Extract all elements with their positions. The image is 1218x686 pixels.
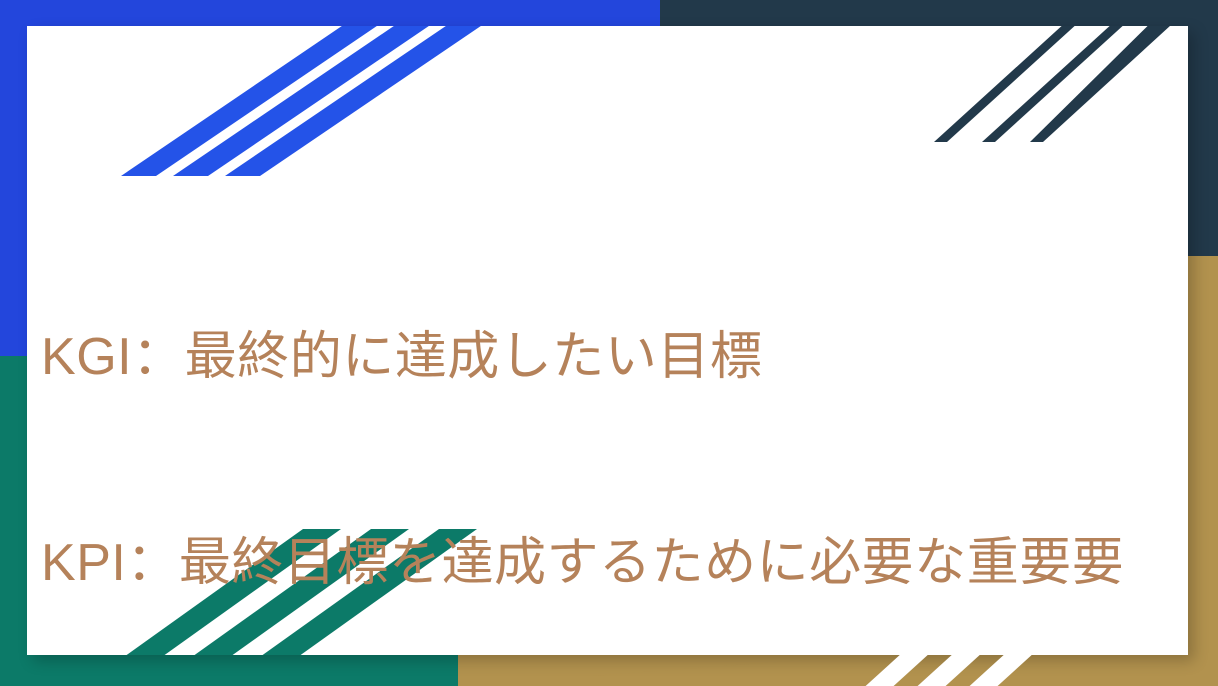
content-card: KGI：最終的に達成したい目標 KPI：最終目標を達成するために必要な重要要 素…: [27, 26, 1188, 655]
text-line-kgi: KGI：最終的に達成したい目標: [41, 323, 1176, 392]
body-text-block: KGI：最終的に達成したい目標 KPI：最終目標を達成するために必要な重要要 素…: [41, 186, 1176, 655]
slate-diagonal-stripes-icon: [894, 26, 1188, 152]
text-line-kpi: KPI：最終目標を達成するために必要な重要要: [41, 529, 1176, 598]
slide-canvas: KGI：最終的に達成したい目標 KPI：最終目標を達成するために必要な重要要 素…: [0, 0, 1218, 686]
blue-diagonal-stripes-icon: [27, 26, 541, 186]
